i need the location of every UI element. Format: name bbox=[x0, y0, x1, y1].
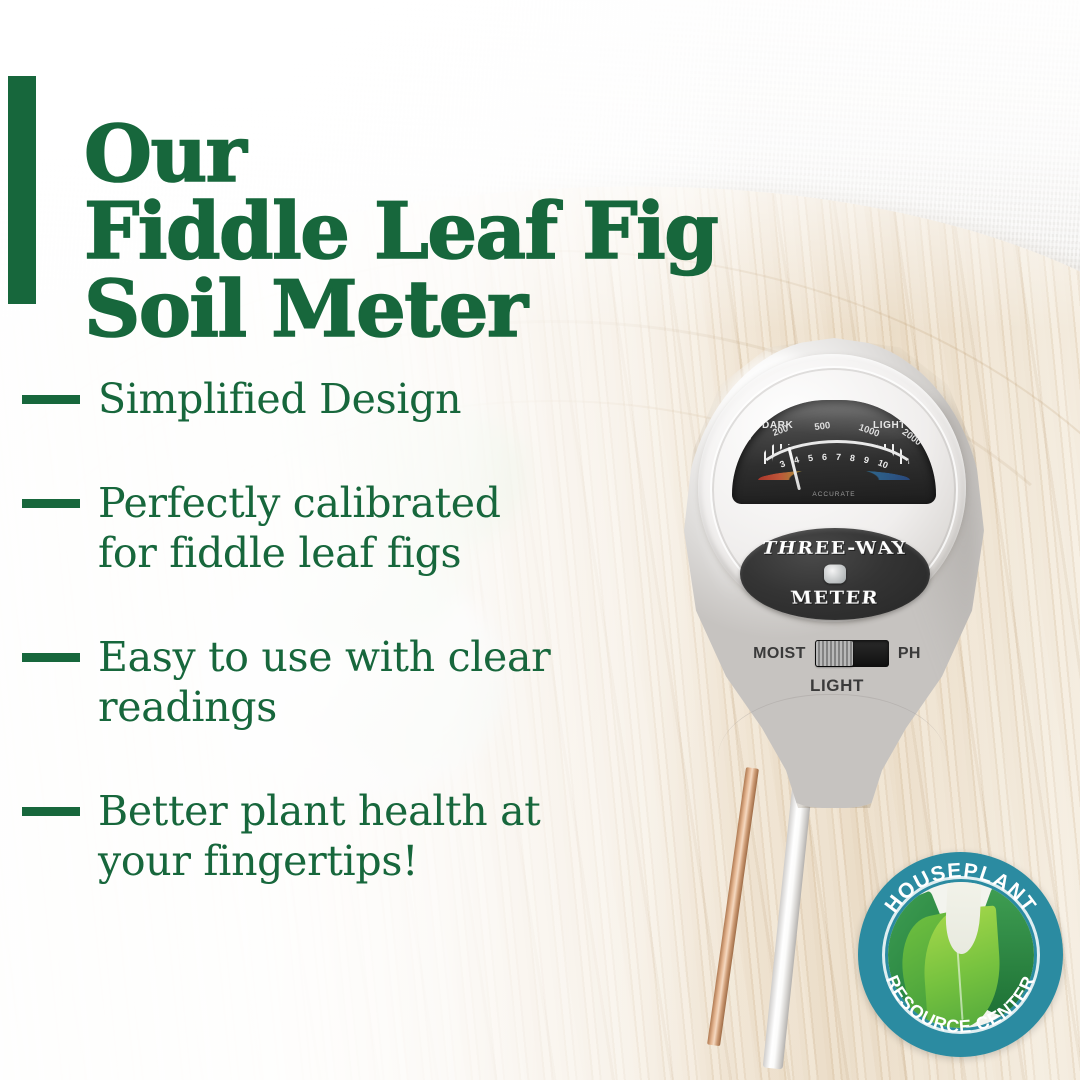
ph-tick-8: 8 bbox=[849, 453, 856, 464]
list-item: Easy to use with clear readings bbox=[22, 632, 662, 732]
gauge-brand-text: ACCURATE bbox=[732, 491, 936, 498]
feature-text: Better plant health at your fingertips! bbox=[98, 786, 540, 886]
switch-track[interactable] bbox=[815, 640, 889, 667]
three-way-meter-badge: THREE-WAY METER bbox=[740, 528, 930, 620]
page-title: Our Fiddle Leaf Fig Soil Meter bbox=[84, 116, 804, 348]
ph-tick-6: 6 bbox=[822, 452, 828, 462]
feature-text: Easy to use with clear readings bbox=[98, 632, 550, 732]
dash-icon bbox=[22, 653, 80, 662]
switch-knob[interactable] bbox=[816, 641, 853, 666]
ph-tick-5: 5 bbox=[807, 453, 814, 464]
list-item: Simplified Design bbox=[22, 374, 662, 424]
mode-switch[interactable]: MOIST PH bbox=[712, 640, 962, 667]
dash-icon bbox=[22, 499, 80, 508]
badge-bottom-text: METER bbox=[789, 587, 880, 608]
list-item: Perfectly calibrated for fiddle leaf fig… bbox=[22, 478, 662, 578]
feature-text: Perfectly calibrated for fiddle leaf fig… bbox=[98, 478, 501, 578]
analog-gauge: DARK LIGHT 0 200 500 1000 2000 3 4 5 6 7… bbox=[732, 400, 936, 504]
dash-icon bbox=[22, 395, 80, 404]
ph-scale: 3 4 5 6 7 8 9 10 bbox=[732, 454, 936, 464]
feature-line: Perfectly calibrated bbox=[98, 478, 501, 528]
ph-tick-9: 9 bbox=[863, 455, 870, 466]
logo-ring-text: HOUSEPLANT RESOURCE CENTER bbox=[858, 852, 1063, 1057]
switch-label-light: LIGHT bbox=[712, 676, 962, 696]
lux-tick-0: 0 bbox=[743, 431, 754, 443]
lux-tick-500: 500 bbox=[813, 420, 830, 433]
badge-top-text: THREE-WAY bbox=[759, 538, 911, 559]
switch-label-ph: PH bbox=[898, 645, 921, 663]
svg-text:RESOURCE CENTER: RESOURCE CENTER bbox=[882, 972, 1039, 1036]
headline-line-2: Fiddle Leaf Fig bbox=[84, 193, 804, 270]
feature-line: Better plant health at bbox=[98, 786, 540, 836]
feature-line: for fiddle leaf figs bbox=[98, 528, 501, 578]
feature-line: your fingertips! bbox=[98, 836, 540, 886]
soil-meter-device: DARK LIGHT 0 200 500 1000 2000 3 4 5 6 7… bbox=[676, 338, 1016, 858]
logo-top-text: HOUSEPLANT bbox=[880, 859, 1040, 917]
badge-screw bbox=[824, 565, 846, 584]
accent-bar bbox=[8, 76, 36, 304]
list-item: Better plant health at your fingertips! bbox=[22, 786, 662, 886]
product-feature-graphic: Our Fiddle Leaf Fig Soil Meter Simplifie… bbox=[0, 0, 1080, 1080]
feature-line: Simplified Design bbox=[98, 374, 461, 424]
feature-text: Simplified Design bbox=[98, 374, 461, 424]
headline-line-3: Soil Meter bbox=[84, 271, 804, 348]
feature-list: Simplified Design Perfectly calibrated f… bbox=[22, 374, 662, 940]
dash-icon bbox=[22, 807, 80, 816]
logo-bottom-text: RESOURCE CENTER bbox=[882, 972, 1039, 1036]
feature-line: Easy to use with clear bbox=[98, 632, 550, 682]
switch-label-moist: MOIST bbox=[753, 645, 806, 663]
svg-text:HOUSEPLANT: HOUSEPLANT bbox=[880, 859, 1040, 917]
ph-tick-7: 7 bbox=[836, 452, 842, 462]
brand-logo: HOUSEPLANT RESOURCE CENTER bbox=[858, 852, 1063, 1057]
headline-line-1: Our bbox=[84, 116, 804, 193]
feature-line: readings bbox=[98, 682, 550, 732]
